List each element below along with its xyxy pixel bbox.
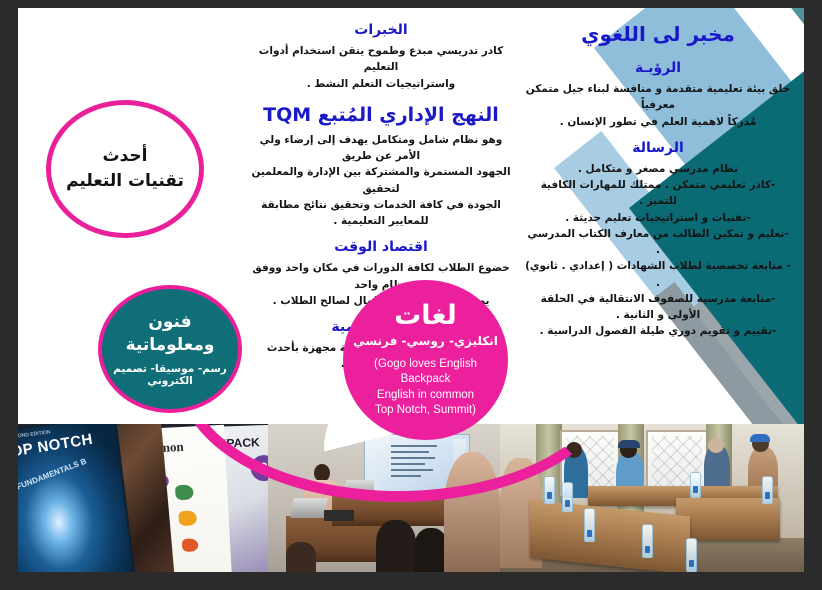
book-shape-6 (182, 538, 199, 552)
section-experience-heading: الخبرات (250, 22, 512, 38)
mission-line-2: -كادر تعليمي متمكن . ممتلك للمهارات الكا… (524, 177, 792, 210)
booklist-line-1: (Gogo loves English (374, 357, 477, 373)
badge-tech-line-2: تقنيات التعليم (66, 169, 184, 195)
attendee-4-cap (750, 434, 770, 442)
screen-text-line-6 (391, 475, 421, 477)
booklist-line-3: English in common (374, 388, 477, 404)
badge-arts-line-1: فنون (148, 311, 191, 334)
time-economy-line-1: خضوع الطلاب لكافة الدورات في مكان واحد و… (250, 260, 512, 293)
badge-arts-informatics[interactable]: فنون ومعلوماتية رسم- موسيقا- تصميم الكتر… (98, 285, 242, 413)
badge-arts-subtitle: رسم- موسيقا- تصميم الكتروني (102, 363, 238, 387)
student-1 (376, 520, 416, 572)
screen-text-line-5 (391, 469, 433, 471)
section-experience-body: كادر تدريسي مبدع وطموح يتقن استخدام أدوا… (250, 43, 512, 92)
tqm-line-2: الجهود المستمرة والمشتركة بين الإدارة وا… (250, 164, 512, 197)
section-time-economy-heading: اقتصاد الوقت (250, 239, 512, 255)
book-shape-2 (175, 484, 194, 500)
section-vision: الرؤيـة خلق بيئة تعليمية متقدمة و منافسة… (524, 60, 792, 130)
attendee-1-head (566, 442, 582, 458)
section-mission-body: نظام مدرسي مصغر و متكامل . -كادر تعليمي … (524, 161, 792, 340)
section-tqm: النهج الإداري المُتبع TQM وهو نظام شامل … (250, 104, 512, 230)
student-2 (414, 528, 448, 572)
book-shape-4 (178, 510, 197, 526)
book-number-3: 3 (250, 455, 268, 482)
attendee-3-head (708, 438, 724, 453)
classroom-presentation-photo (268, 424, 500, 572)
tqm-line-3: الجودة في كافة الخدمات وتحقيق نتائج مطاب… (250, 197, 512, 230)
english-textbooks-photo: 1 BACKPACK 3 common SECOND EDIT (18, 424, 268, 572)
screen-text-line-1 (391, 445, 437, 447)
laptop-2 (346, 480, 374, 498)
water-bottle-4 (642, 524, 653, 558)
section-experience: الخبرات كادر تدريسي مبدع وطموح يتقن استخ… (250, 22, 512, 92)
water-bottle-6 (690, 472, 701, 498)
badge-tech-line-1: أحدث (103, 144, 148, 170)
tqm-line-1: وهو نظام شامل ومتكامل يهدف إلى إرضاء ولي… (250, 132, 512, 165)
photo-strip: 1 BACKPACK 3 common SECOND EDIT (18, 424, 804, 572)
vision-line-1: خلق بيئة تعليمية متقدمة و منافسة لبناء ج… (524, 81, 792, 114)
projector-device (324, 510, 354, 521)
badge-languages-title: لغات (394, 301, 457, 331)
experience-line-2: واستراتيجيات التعلم النشط . (250, 76, 512, 92)
section-mission: الرسالة نظام مدرسي مصغر و متكامل . -كادر… (524, 140, 792, 340)
laptop-1 (290, 498, 328, 518)
section-tqm-heading: النهج الإداري المُتبع TQM (250, 104, 512, 126)
student-foreground (444, 452, 500, 572)
poster-page: مخبر لى اللغوي الرؤيـة خلق بيئة تعليمية … (18, 8, 804, 572)
water-bottle-1 (544, 476, 555, 504)
booklist-line-2: Backpack (374, 372, 477, 388)
screen-text-line-2 (391, 451, 429, 453)
meeting-room-photo (500, 424, 804, 572)
screen-text-line-3 (391, 457, 435, 459)
section-vision-heading: الرؤيـة (524, 60, 792, 76)
water-bottle-7 (762, 476, 773, 504)
booklist-line-4: Top Notch, Summit) (374, 403, 477, 419)
right-text-column: مخبر لى اللغوي الرؤيـة خلق بيئة تعليمية … (524, 12, 792, 340)
mission-line-6: -متابعة مدرسية للصفوف الانتقالية في الحل… (524, 291, 792, 324)
badge-languages-subtitle: انكليزي- روسي- فرنسي (353, 334, 498, 348)
badge-languages[interactable]: لغات انكليزي- روسي- فرنسي (Gogo loves En… (343, 280, 508, 440)
water-bottle-3 (584, 508, 595, 542)
mission-line-4: -تعليم و تمكين الطالب من معارف الكتاب ال… (524, 226, 792, 259)
student-3 (286, 542, 316, 572)
badge-latest-technologies[interactable]: أحدث تقنيات التعليم (46, 100, 204, 238)
mission-line-3: -تقنيات و استراتيجيات تعليم حديثة . (524, 210, 792, 226)
book-subtitle-fundamentals: FUNDAMENTALS B (18, 457, 88, 492)
section-tqm-body: وهو نظام شامل ومتكامل يهدف إلى إرضاء ولي… (250, 132, 512, 230)
experience-line-1: كادر تدريسي مبدع وطموح يتقن استخدام أدوا… (250, 43, 512, 76)
water-bottle-5 (686, 538, 697, 572)
water-bottle-2 (562, 482, 573, 512)
mission-line-1: نظام مدرسي مصغر و متكامل . (524, 161, 792, 177)
badge-languages-booklist: (Gogo loves English Backpack English in … (374, 357, 477, 419)
poster-canvas: مخبر لى اللغوي الرؤيـة خلق بيئة تعليمية … (0, 0, 822, 590)
page-title: مخبر لى اللغوي (524, 22, 792, 46)
attendee-2-cap (618, 440, 640, 448)
vision-line-2: مُدركاً لاهمية العلم في تطور الإنسان . (524, 114, 792, 130)
mission-line-7: -تقييم و تقويم دوري طيلة الفصول الدراسية… (524, 323, 792, 339)
book-cover-top-notch: SECOND EDITION TOP NOTCH FUNDAMENTALS B (18, 424, 135, 572)
conference-table-side (676, 498, 780, 540)
section-vision-body: خلق بيئة تعليمية متقدمة و منافسة لبناء ج… (524, 81, 792, 130)
screen-text-line-4 (391, 463, 425, 465)
mission-line-5: - متابعة تخصصية لطلاب الشهادات ( إعدادي … (524, 258, 792, 291)
section-mission-heading: الرسالة (524, 140, 792, 156)
badge-arts-line-2: ومعلوماتية (126, 334, 215, 357)
